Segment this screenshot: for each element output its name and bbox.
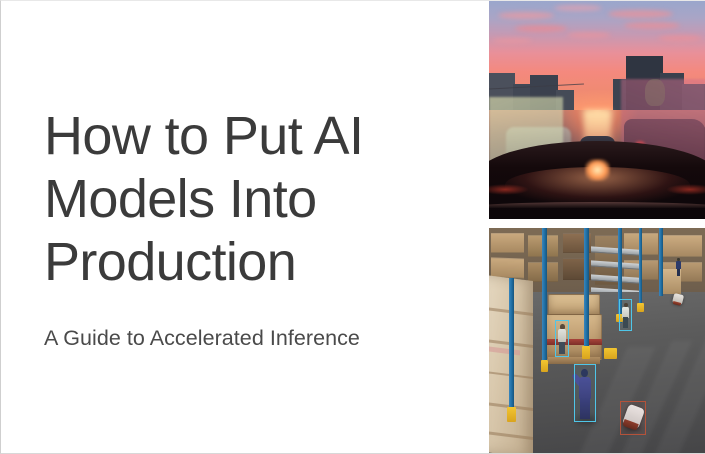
rack-upright	[584, 228, 588, 355]
warehouse-worker	[676, 258, 682, 276]
cloud	[567, 32, 610, 38]
rack-upright	[509, 278, 515, 419]
pallet-stack	[548, 294, 600, 317]
hood-sun-glare	[585, 159, 609, 181]
boxed-pallet	[491, 233, 524, 253]
cloud	[493, 38, 532, 43]
image-column	[489, 1, 705, 454]
detection-box-person	[555, 320, 569, 357]
rack-upright	[639, 228, 643, 310]
warehouse-detection-image	[489, 228, 705, 454]
hood-taillight-glow	[489, 184, 529, 195]
rack-guard	[507, 407, 516, 422]
rack-guard	[604, 348, 617, 358]
page-title: How to Put AI Models Into Production	[44, 105, 444, 295]
hood-taillight-glow	[666, 184, 705, 195]
rack-upright	[659, 228, 662, 296]
rack-guard	[582, 346, 590, 358]
boxed-pallet	[663, 235, 702, 258]
worker-legs	[677, 269, 680, 276]
av-scene	[489, 1, 705, 219]
cloud	[515, 25, 567, 32]
warehouse-scene	[489, 228, 705, 454]
cloud	[658, 35, 701, 41]
cloud	[498, 12, 554, 19]
cloud	[608, 10, 673, 19]
title-block: How to Put AI Models Into Production A G…	[1, 1, 489, 454]
detection-box-person	[619, 299, 632, 331]
boxed-pallet	[491, 257, 524, 279]
pallet-label-strip	[489, 346, 520, 355]
pallet-base	[548, 357, 600, 364]
pallet-seam	[489, 431, 532, 440]
rack-upright	[542, 228, 547, 369]
detection-box-robot	[620, 401, 646, 435]
page-subtitle: A Guide to Accelerated Inference	[44, 326, 489, 351]
cloud	[554, 5, 602, 11]
detection-box-person	[574, 364, 597, 422]
cloud	[624, 22, 680, 29]
autonomous-driving-image	[489, 1, 705, 219]
cover-page: How to Put AI Models Into Production A G…	[0, 0, 705, 454]
vehicle-hood	[489, 141, 705, 219]
rack-guard	[637, 303, 644, 312]
hood-edge	[489, 202, 705, 208]
rack-guard	[541, 360, 549, 372]
